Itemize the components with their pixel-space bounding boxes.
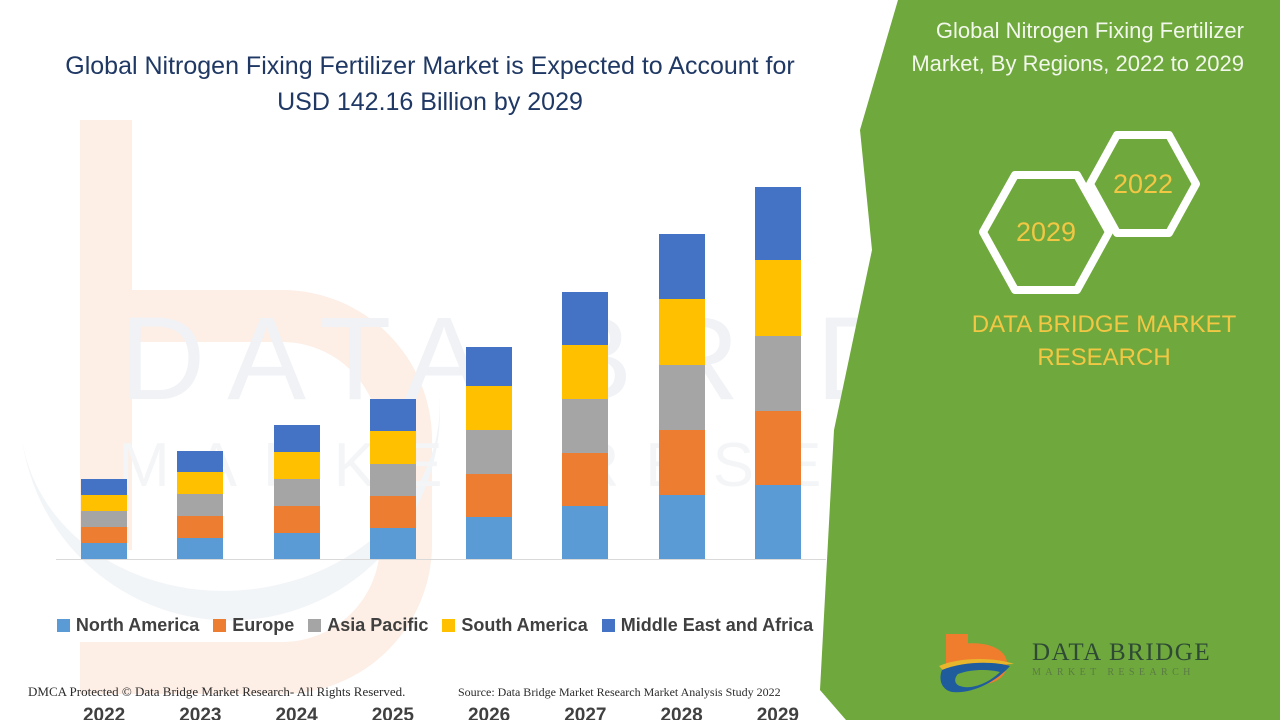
bar-group: [152, 140, 248, 559]
bar-segment: [81, 543, 127, 559]
legend-swatch: [602, 619, 615, 632]
legend-label: Europe: [232, 615, 294, 636]
bar-group: [537, 140, 633, 559]
bar-segment: [755, 260, 801, 336]
data-bridge-logo: DATA BRIDGE MARKET RESEARCH: [936, 628, 1166, 698]
bar-group: [441, 140, 537, 559]
bar-segment: [755, 187, 801, 260]
logo-text: DATA BRIDGE MARKET RESEARCH: [1032, 640, 1211, 680]
bar-segment: [177, 516, 223, 538]
bar-segment: [81, 527, 127, 543]
stacked-bar-chart: 20222023202420252026202720282029: [40, 140, 830, 560]
hexagon-start-year-label: 2022: [1113, 169, 1173, 200]
stacked-bar: [81, 479, 127, 559]
legend-swatch: [442, 619, 455, 632]
bar-segment: [370, 496, 416, 528]
chart-title: Global Nitrogen Fixing Fertilizer Market…: [40, 48, 820, 120]
dmca-notice: DMCA Protected © Data Bridge Market Rese…: [28, 684, 405, 700]
bar-segment: [81, 479, 127, 495]
bar-segment: [562, 453, 608, 506]
bar-segment: [562, 399, 608, 453]
bar-segment: [177, 494, 223, 516]
logo-subtitle: MARKET RESEARCH: [1032, 666, 1211, 680]
bar-group: [345, 140, 441, 559]
bar-segment: [659, 234, 705, 299]
plot-area: [56, 140, 826, 559]
bar-group: [249, 140, 345, 559]
bar-segment: [177, 451, 223, 472]
bar-segment: [370, 399, 416, 431]
legend-item[interactable]: North America: [57, 615, 199, 636]
legend-swatch: [308, 619, 321, 632]
stacked-bar: [274, 425, 320, 559]
logo-name: DATA BRIDGE: [1032, 640, 1211, 666]
stacked-bar: [562, 292, 608, 559]
hexagon-group: 2022 2029: [972, 130, 1202, 295]
logo-mark-icon: [936, 630, 1022, 696]
brand-name: DATA BRIDGE MARKET RESEARCH: [954, 308, 1254, 374]
legend-item[interactable]: South America: [442, 615, 587, 636]
bar-segment: [370, 464, 416, 496]
bar-segment: [274, 506, 320, 533]
legend-label: South America: [461, 615, 587, 636]
bar-segment: [274, 533, 320, 559]
bar-segment: [755, 336, 801, 411]
bar-segment: [177, 538, 223, 559]
infographic-root: DATA BRIDGE MARKET RESEARCH Global Nitro…: [0, 0, 1280, 720]
bar-segment: [562, 345, 608, 399]
bar-group: [634, 140, 730, 559]
bar-segment: [466, 386, 512, 430]
bar-segment: [370, 528, 416, 559]
legend-label: Asia Pacific: [327, 615, 428, 636]
legend-swatch: [213, 619, 226, 632]
legend-item[interactable]: Europe: [213, 615, 294, 636]
bar-segment: [177, 472, 223, 494]
bar-group: [56, 140, 152, 559]
bar-segment: [755, 411, 801, 485]
footer: DMCA Protected © Data Bridge Market Rese…: [0, 684, 860, 714]
bar-segment: [370, 431, 416, 464]
bar-segment: [755, 485, 801, 559]
bar-segment: [81, 495, 127, 511]
stacked-bar: [755, 187, 801, 559]
hexagon-end-year-label: 2029: [1016, 217, 1076, 248]
bar-segment: [81, 511, 127, 527]
legend-swatch: [57, 619, 70, 632]
bar-segment: [466, 474, 512, 517]
bar-group: [730, 140, 826, 559]
bar-segment: [466, 517, 512, 559]
bar-segment: [274, 479, 320, 506]
stacked-bar: [466, 347, 512, 559]
stacked-bar: [659, 234, 705, 559]
stacked-bar: [370, 399, 416, 559]
bar-segment: [466, 430, 512, 474]
legend-item[interactable]: Asia Pacific: [308, 615, 428, 636]
legend-label: North America: [76, 615, 199, 636]
bar-segment: [659, 365, 705, 430]
bar-segment: [562, 292, 608, 345]
bar-segment: [659, 495, 705, 559]
bar-segment: [562, 506, 608, 559]
bar-segment: [274, 452, 320, 479]
hexagon-end-year: 2029: [976, 170, 1116, 295]
legend-item[interactable]: Middle East and Africa: [602, 615, 813, 636]
source-note: Source: Data Bridge Market Research Mark…: [458, 685, 781, 700]
bar-segment: [659, 430, 705, 495]
x-axis-line: [56, 559, 826, 560]
chart-legend: North AmericaEuropeAsia PacificSouth Ame…: [40, 615, 830, 636]
stacked-bar: [177, 451, 223, 559]
bar-segment: [659, 299, 705, 365]
brand-panel: Global Nitrogen Fixing Fertilizer Market…: [820, 0, 1280, 720]
bar-segment: [466, 347, 512, 386]
bar-segment: [274, 425, 320, 452]
panel-title: Global Nitrogen Fixing Fertilizer Market…: [894, 14, 1244, 80]
legend-label: Middle East and Africa: [621, 615, 813, 636]
